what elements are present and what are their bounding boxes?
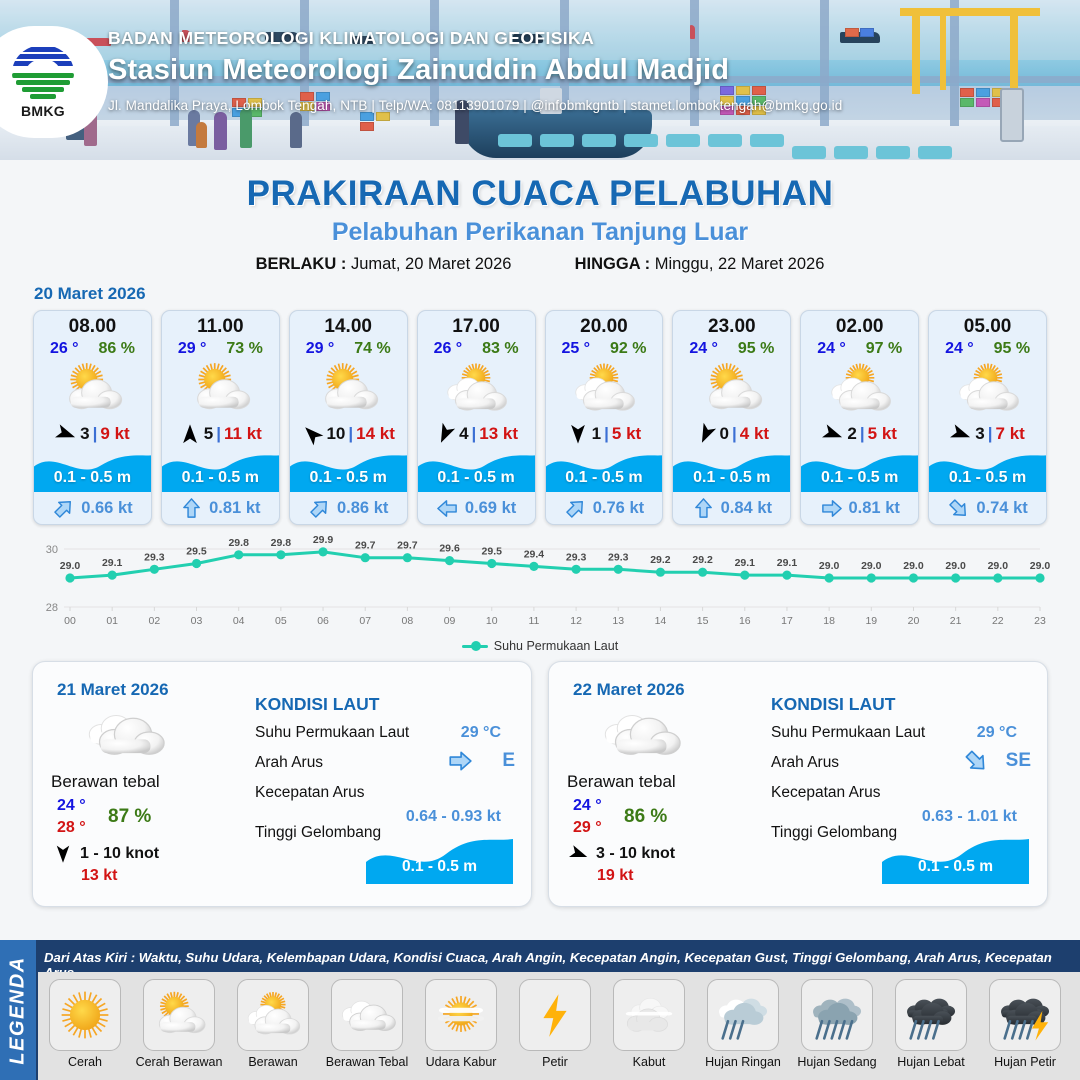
sea-conditions-title: KONDISI LAUT bbox=[255, 694, 379, 715]
svg-text:29.0: 29.0 bbox=[903, 560, 924, 572]
wave-height-value: 0.1 - 0.5 m bbox=[162, 469, 279, 487]
wave-height-band: 0.1 - 0.5 m bbox=[673, 448, 790, 492]
svg-text:29.3: 29.3 bbox=[566, 551, 587, 563]
svg-text:29.7: 29.7 bbox=[355, 540, 376, 552]
berlaku-value: Jumat, 20 Maret 2026 bbox=[351, 255, 512, 273]
weather-icon-berawan bbox=[801, 360, 918, 418]
current-speed: 0.81 kt bbox=[849, 499, 900, 518]
sst-value: 29 °C bbox=[461, 724, 501, 742]
svg-text:10: 10 bbox=[486, 615, 498, 627]
weather-icon-cerah-berawan bbox=[34, 360, 151, 418]
chart-legend-label: Suhu Permukaan Laut bbox=[494, 639, 618, 653]
legend-icon-cerah bbox=[49, 979, 121, 1051]
wind-direction-arrow-icon bbox=[567, 423, 589, 445]
current-speed-value: 0.64 - 0.93 kt bbox=[406, 808, 501, 826]
weather-icon-berawan bbox=[418, 360, 535, 418]
svg-text:14: 14 bbox=[655, 615, 667, 627]
svg-text:29.9: 29.9 bbox=[313, 535, 334, 546]
svg-text:00: 00 bbox=[64, 615, 76, 627]
gust-speed: 5 kt bbox=[612, 424, 641, 444]
card-time: 17.00 bbox=[418, 311, 535, 338]
contact-info: Jl. Mandalika Praya, Lombok Tengah, NTB … bbox=[108, 98, 842, 113]
current-speed-value: 0.63 - 1.01 kt bbox=[922, 808, 1017, 826]
page-title: PRAKIRAAN CUACA PELABUHAN bbox=[0, 174, 1080, 214]
legend-icon-udara-kabur bbox=[425, 979, 497, 1051]
current-speed: 0.74 kt bbox=[976, 499, 1027, 518]
weather-icon-berawan bbox=[929, 360, 1046, 418]
hourly-card: 14.00 29 ° 74 % 10 | 14 kt bbox=[289, 310, 408, 525]
svg-text:30: 30 bbox=[46, 544, 58, 556]
legend-item-label: Cerah Berawan bbox=[132, 1055, 226, 1069]
card-temperature: 24 ° bbox=[945, 340, 974, 358]
svg-text:29.3: 29.3 bbox=[144, 551, 165, 563]
current-direction-arrow-icon bbox=[308, 497, 331, 520]
gust-speed: 11 kt bbox=[224, 424, 262, 444]
legend-item-label: Udara Kabur bbox=[414, 1055, 508, 1069]
legend-item: Hujan Sedang bbox=[790, 972, 884, 1069]
card-time: 20.00 bbox=[546, 311, 663, 338]
wave-height-value: 0.1 - 0.5 m bbox=[418, 469, 535, 487]
hourly-forecast-row: 08.00 26 ° 86 % 3 | 9 kt bbox=[0, 310, 1080, 525]
card-time: 11.00 bbox=[162, 311, 279, 338]
wind-speed: 4 bbox=[459, 424, 468, 444]
svg-text:08: 08 bbox=[402, 615, 414, 627]
legend-item-label: Hujan Sedang bbox=[790, 1055, 884, 1069]
station-name: Stasiun Meteorologi Zainuddin Abdul Madj… bbox=[108, 54, 842, 87]
daily-date: 22 Maret 2026 bbox=[573, 680, 685, 700]
gust-speed: 7 kt bbox=[996, 424, 1025, 444]
daily-wind-range: 3 - 10 knot bbox=[596, 845, 675, 863]
wave-height-band: 0.1 - 0.5 m bbox=[418, 448, 535, 492]
svg-text:29.7: 29.7 bbox=[397, 540, 418, 552]
card-temperature: 24 ° bbox=[817, 340, 846, 358]
card-humidity: 74 % bbox=[354, 340, 390, 358]
card-humidity: 73 % bbox=[226, 340, 262, 358]
sst-label: Suhu Permukaan Laut bbox=[771, 724, 925, 742]
page-subtitle: Pelabuhan Perikanan Tanjung Luar bbox=[0, 218, 1080, 247]
wind-direction-arrow-icon bbox=[301, 423, 323, 445]
daily-wind-direction-arrow-icon bbox=[569, 844, 589, 864]
wind-separator: | bbox=[472, 424, 477, 444]
svg-text:29.0: 29.0 bbox=[819, 560, 840, 572]
legend-item: Berawan bbox=[226, 972, 320, 1069]
wind-direction-arrow-icon bbox=[434, 423, 456, 445]
svg-text:29.1: 29.1 bbox=[735, 557, 756, 569]
svg-text:29.0: 29.0 bbox=[988, 560, 1009, 572]
daily-wind-range: 1 - 10 knot bbox=[80, 845, 159, 863]
current-speed-label: Kecepatan Arus bbox=[771, 784, 880, 802]
daily-temp-max: 28 ° bbox=[57, 819, 86, 837]
wave-height-value: 0.1 - 0.5 m bbox=[546, 469, 663, 487]
svg-text:29.2: 29.2 bbox=[650, 554, 671, 566]
wind-speed: 3 bbox=[80, 424, 89, 444]
svg-text:29.2: 29.2 bbox=[692, 554, 713, 566]
card-time: 23.00 bbox=[673, 311, 790, 338]
wind-separator: | bbox=[348, 424, 353, 444]
card-temperature: 29 ° bbox=[178, 340, 207, 358]
card-humidity: 95 % bbox=[738, 340, 774, 358]
agency-name: BADAN METEOROLOGI KLIMATOLOGI DAN GEOFIS… bbox=[108, 28, 842, 49]
card-humidity: 92 % bbox=[610, 340, 646, 358]
wind-speed: 5 bbox=[204, 424, 213, 444]
wind-separator: | bbox=[988, 424, 993, 444]
hourly-card: 02.00 24 ° 97 % 2 | 5 kt bbox=[800, 310, 919, 525]
current-direction-arrow-icon bbox=[436, 497, 459, 520]
sst-chart: 302829.00029.10129.30229.50329.80429.805… bbox=[30, 535, 1050, 635]
current-speed: 0.76 kt bbox=[593, 499, 644, 518]
svg-text:21: 21 bbox=[950, 615, 962, 627]
svg-text:29.5: 29.5 bbox=[186, 546, 207, 558]
legend-icon-hujan-ringan bbox=[707, 979, 779, 1051]
legend-item-label: Berawan Tebal bbox=[320, 1055, 414, 1069]
gust-speed: 14 kt bbox=[356, 424, 395, 444]
svg-text:29.5: 29.5 bbox=[482, 546, 503, 558]
legend-item-label: Hujan Lebat bbox=[884, 1055, 978, 1069]
legend-icon-hujan-sedang bbox=[801, 979, 873, 1051]
svg-text:03: 03 bbox=[191, 615, 203, 627]
wind-separator: | bbox=[216, 424, 221, 444]
legend-items: Cerah Cerah Berawan bbox=[38, 972, 1080, 1080]
gust-speed: 9 kt bbox=[100, 424, 129, 444]
bmkg-logo: BMKG bbox=[0, 26, 108, 138]
card-temperature: 26 ° bbox=[434, 340, 463, 358]
current-direction-arrow-icon bbox=[52, 497, 75, 520]
wave-height-value: 0.1 - 0.5 m bbox=[929, 469, 1046, 487]
current-speed-label: Kecepatan Arus bbox=[255, 784, 364, 802]
current-speed: 0.86 kt bbox=[337, 499, 388, 518]
svg-text:29.6: 29.6 bbox=[439, 543, 460, 555]
current-direction-arrow-icon bbox=[180, 497, 203, 520]
wind-separator: | bbox=[860, 424, 865, 444]
daily-weather-icon-berawan-tebal bbox=[599, 708, 685, 760]
legend-icon-berawan bbox=[237, 979, 309, 1051]
svg-text:09: 09 bbox=[444, 615, 456, 627]
wind-speed: 1 bbox=[592, 424, 601, 444]
legend-icon-berawan-tebal bbox=[331, 979, 403, 1051]
weather-icon-cerah-berawan bbox=[673, 360, 790, 418]
daily-forecast-panel: 21 Maret 2026 Berawan tebal 24 ° 28 ° 87… bbox=[32, 661, 532, 907]
legend-item: Udara Kabur bbox=[414, 972, 508, 1069]
hingga-value: Minggu, 22 Maret 2026 bbox=[655, 255, 825, 273]
hourly-day-label: 20 Maret 2026 bbox=[34, 284, 1080, 304]
svg-text:29.1: 29.1 bbox=[102, 557, 123, 569]
daily-condition: Berawan tebal bbox=[51, 772, 160, 792]
validity-range: BERLAKU : Jumat, 20 Maret 2026 HINGGA : … bbox=[0, 255, 1080, 274]
legend-icon-petir bbox=[519, 979, 591, 1051]
wind-speed: 3 bbox=[975, 424, 984, 444]
legend-tab-label: LEGENDA bbox=[7, 956, 30, 1064]
daily-date: 21 Maret 2026 bbox=[57, 680, 169, 700]
svg-text:13: 13 bbox=[612, 615, 624, 627]
wind-direction-arrow-icon bbox=[179, 423, 201, 445]
wave-height-band: 0.1 - 0.5 m bbox=[801, 448, 918, 492]
wind-separator: | bbox=[604, 424, 609, 444]
legend-item-label: Berawan bbox=[226, 1055, 320, 1069]
sea-conditions-title: KONDISI LAUT bbox=[771, 694, 895, 715]
berlaku-label: BERLAKU : bbox=[256, 255, 347, 273]
card-temperature: 26 ° bbox=[50, 340, 79, 358]
card-time: 08.00 bbox=[34, 311, 151, 338]
daily-forecast-row: 21 Maret 2026 Berawan tebal 24 ° 28 ° 87… bbox=[0, 653, 1080, 907]
wave-height-label: Tinggi Gelombang bbox=[771, 824, 897, 842]
card-humidity: 95 % bbox=[994, 340, 1030, 358]
bmkg-emblem-icon bbox=[12, 45, 74, 101]
legend-item-label: Hujan Ringan bbox=[696, 1055, 790, 1069]
svg-text:22: 22 bbox=[992, 615, 1004, 627]
card-time: 14.00 bbox=[290, 311, 407, 338]
current-direction-label: Arah Arus bbox=[255, 754, 323, 772]
svg-text:16: 16 bbox=[739, 615, 751, 627]
current-speed: 0.81 kt bbox=[209, 499, 260, 518]
daily-gust: 13 kt bbox=[81, 867, 117, 885]
wind-direction-arrow-icon bbox=[950, 423, 972, 445]
svg-text:07: 07 bbox=[359, 615, 371, 627]
daily-current-arrow-icon bbox=[447, 748, 473, 779]
svg-text:29.0: 29.0 bbox=[861, 560, 882, 572]
svg-text:29.8: 29.8 bbox=[228, 537, 249, 549]
daily-humidity: 87 % bbox=[108, 806, 151, 828]
svg-text:29.8: 29.8 bbox=[271, 537, 292, 549]
wave-height-band: 0.1 - 0.5 m bbox=[929, 448, 1046, 492]
wind-separator: | bbox=[93, 424, 98, 444]
bmkg-logo-text: BMKG bbox=[21, 103, 65, 119]
daily-wind-direction-arrow-icon bbox=[53, 844, 73, 864]
wave-height-value: 0.1 - 0.5 m bbox=[673, 469, 790, 487]
wave-height-band: 0.1 - 0.5 m bbox=[546, 448, 663, 492]
svg-text:12: 12 bbox=[570, 615, 582, 627]
legend-item: Cerah Berawan bbox=[132, 972, 226, 1069]
daily-gust: 19 kt bbox=[597, 867, 633, 885]
svg-text:06: 06 bbox=[317, 615, 329, 627]
legend-icon-hujan-lebat bbox=[895, 979, 967, 1051]
title-block: PRAKIRAAN CUACA PELABUHAN Pelabuhan Peri… bbox=[0, 160, 1080, 274]
wave-height-label: Tinggi Gelombang bbox=[255, 824, 381, 842]
weather-icon-berawan bbox=[546, 360, 663, 418]
hourly-card: 11.00 29 ° 73 % 5 | 11 kt bbox=[161, 310, 280, 525]
daily-wave-value: 0.1 - 0.5 m bbox=[366, 858, 513, 876]
sst-value: 29 °C bbox=[977, 724, 1017, 742]
svg-text:18: 18 bbox=[823, 615, 835, 627]
daily-temp-min: 24 ° bbox=[573, 797, 602, 815]
svg-text:15: 15 bbox=[697, 615, 709, 627]
wave-height-value: 0.1 - 0.5 m bbox=[290, 469, 407, 487]
gust-speed: 4 kt bbox=[740, 424, 769, 444]
svg-text:23: 23 bbox=[1034, 615, 1046, 627]
daily-temp-max: 29 ° bbox=[573, 819, 602, 837]
svg-text:29.0: 29.0 bbox=[1030, 560, 1050, 572]
svg-text:29.0: 29.0 bbox=[60, 560, 81, 572]
card-humidity: 83 % bbox=[482, 340, 518, 358]
legend-section: LEGENDA Dari Atas Kiri : Waktu, Suhu Uda… bbox=[0, 940, 1080, 1080]
legend-icon-hujan-petir bbox=[989, 979, 1061, 1051]
hourly-card: 17.00 26 ° 83 % 4 | 13 kt bbox=[417, 310, 536, 525]
svg-text:11: 11 bbox=[528, 615, 539, 627]
legend-item: Hujan Ringan bbox=[696, 972, 790, 1069]
legend-item: Berawan Tebal bbox=[320, 972, 414, 1069]
legend-item: Hujan Lebat bbox=[884, 972, 978, 1069]
daily-humidity: 86 % bbox=[624, 806, 667, 828]
svg-text:29.1: 29.1 bbox=[777, 557, 798, 569]
svg-text:17: 17 bbox=[781, 615, 793, 627]
wave-height-band: 0.1 - 0.5 m bbox=[34, 448, 151, 492]
wind-direction-arrow-icon bbox=[822, 423, 844, 445]
current-direction-value: SE bbox=[1006, 750, 1031, 772]
svg-text:29.4: 29.4 bbox=[524, 548, 545, 560]
legend-item-label: Cerah bbox=[38, 1055, 132, 1069]
current-direction-label: Arah Arus bbox=[771, 754, 839, 772]
weather-icon-cerah-berawan bbox=[290, 360, 407, 418]
legend-item: Petir bbox=[508, 972, 602, 1069]
legend-item: Cerah bbox=[38, 972, 132, 1069]
wind-separator: | bbox=[732, 424, 737, 444]
wind-speed: 2 bbox=[847, 424, 856, 444]
svg-text:28: 28 bbox=[46, 602, 58, 614]
svg-text:04: 04 bbox=[233, 615, 245, 627]
card-humidity: 86 % bbox=[98, 340, 134, 358]
wave-height-value: 0.1 - 0.5 m bbox=[801, 469, 918, 487]
daily-forecast-panel: 22 Maret 2026 Berawan tebal 24 ° 29 ° 86… bbox=[548, 661, 1048, 907]
svg-text:29.0: 29.0 bbox=[945, 560, 966, 572]
current-direction-arrow-icon bbox=[692, 497, 715, 520]
chart-legend-marker-icon bbox=[462, 645, 488, 648]
card-time: 05.00 bbox=[929, 311, 1046, 338]
current-direction-arrow-icon bbox=[947, 497, 970, 520]
hingga-label: HINGGA : bbox=[575, 255, 650, 273]
hourly-card: 23.00 24 ° 95 % 0 | 4 kt bbox=[672, 310, 791, 525]
daily-current-arrow-icon bbox=[963, 748, 989, 779]
daily-weather-icon-berawan-tebal bbox=[83, 708, 169, 760]
svg-text:19: 19 bbox=[865, 615, 877, 627]
card-time: 02.00 bbox=[801, 311, 918, 338]
wind-speed: 10 bbox=[326, 424, 345, 444]
daily-condition: Berawan tebal bbox=[567, 772, 676, 792]
daily-temp-min: 24 ° bbox=[57, 797, 86, 815]
wind-direction-arrow-icon bbox=[55, 423, 77, 445]
wind-direction-arrow-icon bbox=[695, 423, 717, 445]
svg-text:20: 20 bbox=[908, 615, 920, 627]
svg-text:02: 02 bbox=[149, 615, 161, 627]
wave-height-band: 0.1 - 0.5 m bbox=[162, 448, 279, 492]
current-direction-arrow-icon bbox=[564, 497, 587, 520]
current-direction-value: E bbox=[502, 750, 515, 772]
wave-height-band: 0.1 - 0.5 m bbox=[290, 448, 407, 492]
legend-item-label: Hujan Petir bbox=[978, 1055, 1072, 1069]
hourly-card: 08.00 26 ° 86 % 3 | 9 kt bbox=[33, 310, 152, 525]
gust-speed: 5 kt bbox=[868, 424, 897, 444]
current-speed: 0.69 kt bbox=[465, 499, 516, 518]
legend-tab: LEGENDA bbox=[0, 940, 36, 1080]
sst-label: Suhu Permukaan Laut bbox=[255, 724, 409, 742]
card-temperature: 25 ° bbox=[561, 340, 590, 358]
svg-text:05: 05 bbox=[275, 615, 287, 627]
daily-wave-value: 0.1 - 0.5 m bbox=[882, 858, 1029, 876]
card-temperature: 24 ° bbox=[689, 340, 718, 358]
wind-speed: 0 bbox=[720, 424, 729, 444]
chart-legend: Suhu Permukaan Laut bbox=[0, 639, 1080, 653]
svg-text:01: 01 bbox=[106, 615, 118, 627]
card-humidity: 97 % bbox=[866, 340, 902, 358]
legend-item-label: Petir bbox=[508, 1055, 602, 1069]
current-direction-arrow-icon bbox=[820, 497, 843, 520]
page-header: BMKG BADAN METEOROLOGI KLIMATOLOGI DAN G… bbox=[0, 0, 1080, 160]
current-speed: 0.84 kt bbox=[721, 499, 772, 518]
current-speed: 0.66 kt bbox=[81, 499, 132, 518]
wave-height-value: 0.1 - 0.5 m bbox=[34, 469, 151, 487]
hourly-card: 20.00 25 ° 92 % 1 | 5 kt bbox=[545, 310, 664, 525]
weather-icon-cerah-berawan bbox=[162, 360, 279, 418]
legend-icon-cerah-berawan bbox=[143, 979, 215, 1051]
card-temperature: 29 ° bbox=[306, 340, 335, 358]
gust-speed: 13 kt bbox=[479, 424, 518, 444]
hourly-card: 05.00 24 ° 95 % 3 | 7 kt bbox=[928, 310, 1047, 525]
legend-item: Kabut bbox=[602, 972, 696, 1069]
legend-item-label: Kabut bbox=[602, 1055, 696, 1069]
svg-text:29.3: 29.3 bbox=[608, 551, 629, 563]
legend-item: Hujan Petir bbox=[978, 972, 1072, 1069]
legend-icon-kabut bbox=[613, 979, 685, 1051]
